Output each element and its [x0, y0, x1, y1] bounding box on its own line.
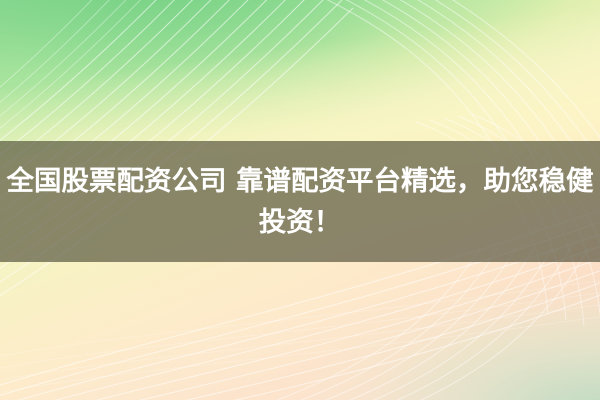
headline-band: 全国股票配资公司 靠谱配资平台精选，助您稳健投资！: [0, 141, 600, 262]
banner-image: 全国股票配资公司 靠谱配资平台精选，助您稳健投资！: [0, 0, 600, 400]
banner-headline: 全国股票配资公司 靠谱配资平台精选，助您稳健投资！: [0, 161, 600, 241]
